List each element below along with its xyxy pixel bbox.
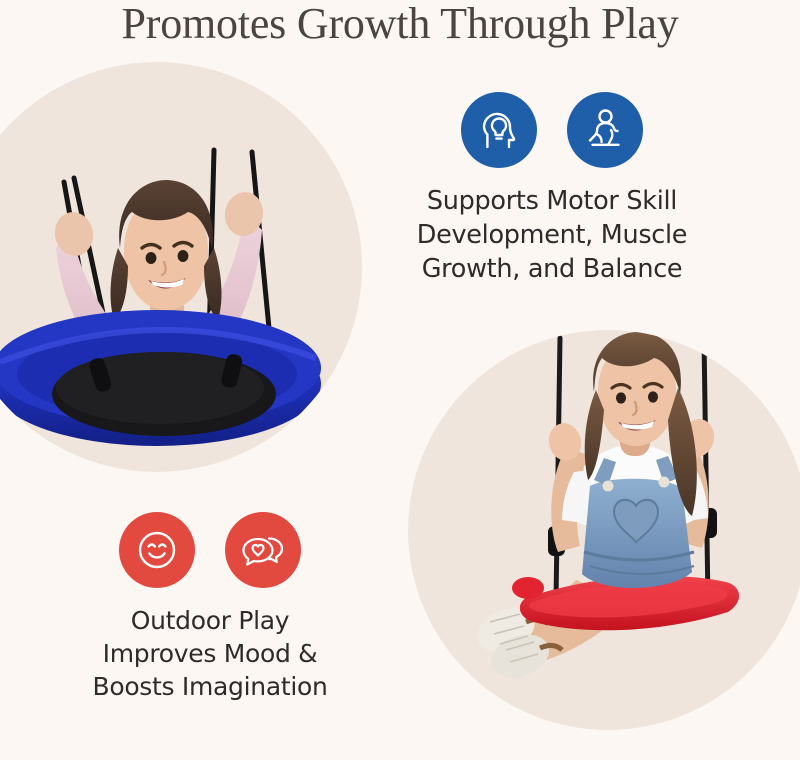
speech-bubbles-heart-icon [225,512,301,588]
saucer-swing-illustration [0,62,362,472]
caption-motor-skills: Supports Motor Skill Development, Muscle… [382,184,722,286]
smiley-face-icon [119,512,195,588]
infographic-canvas: Promotes Growth Through Play [0,0,800,760]
head-lightbulb-icon [461,92,537,168]
child-play-icon [567,92,643,168]
caption-line: Improves Mood & [50,637,370,670]
red-swing-illustration [408,330,800,730]
caption-line: Supports Motor Skill [382,184,722,218]
photo-saucer-swing-art [0,62,362,472]
photo-red-seat-swing [408,330,800,730]
caption-line: Growth, and Balance [382,252,722,286]
caption-line: Outdoor Play [50,604,370,637]
caption-line: Boosts Imagination [50,670,370,703]
page-title: Promotes Growth Through Play [0,0,800,52]
icon-row-motor [382,92,722,168]
photo-red-seat-swing-art [408,330,800,730]
caption-line: Development, Muscle [382,218,722,252]
caption-mood-imagination: Outdoor Play Improves Mood & Boosts Imag… [50,604,370,703]
feature-block-mood-imagination: Outdoor Play Improves Mood & Boosts Imag… [50,512,370,703]
photo-saucer-swing [0,62,362,472]
icon-row-mood [50,512,370,588]
feature-block-motor-skills: Supports Motor Skill Development, Muscle… [382,92,722,286]
